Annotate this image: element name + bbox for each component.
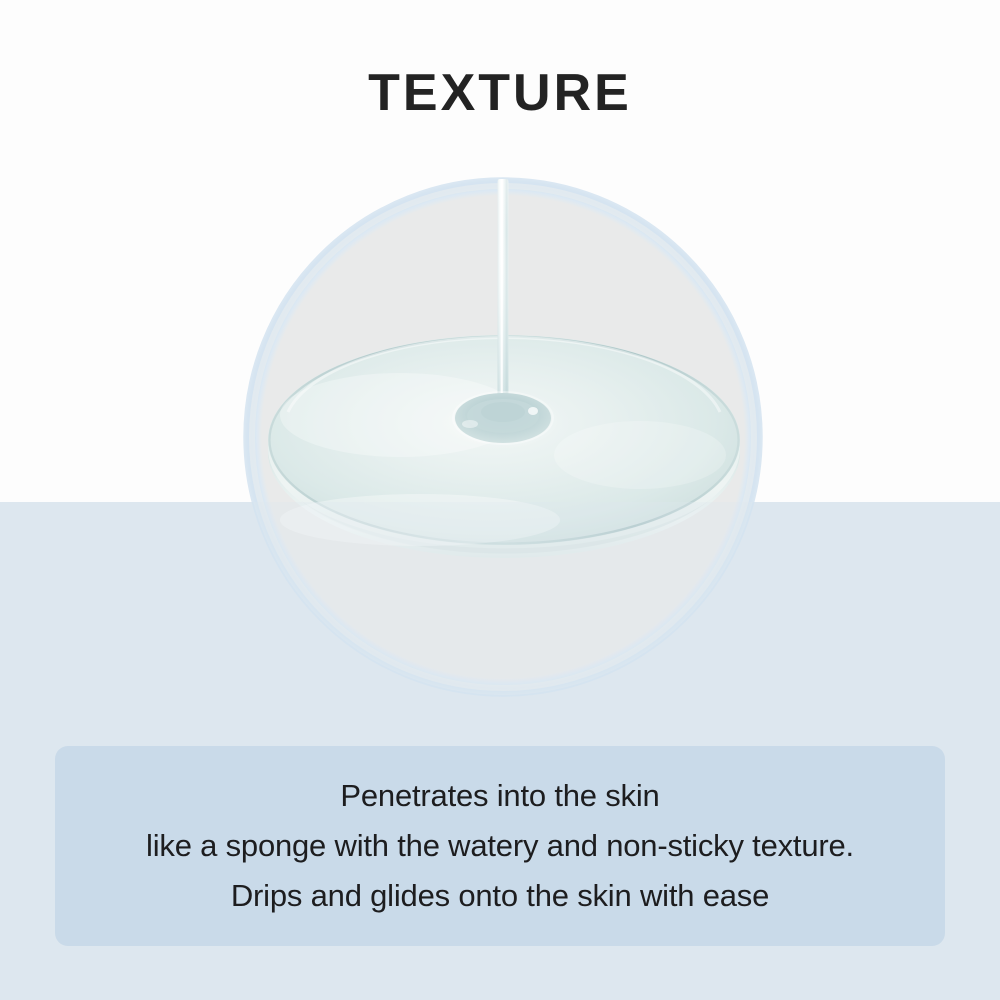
caption-line-1: Penetrates into the skin bbox=[340, 771, 659, 821]
caption-box: Penetrates into the skin like a sponge w… bbox=[55, 746, 945, 946]
infographic-page: TEXTURE bbox=[0, 0, 1000, 1000]
liquid-stream bbox=[498, 178, 509, 422]
splash-impact bbox=[443, 390, 563, 450]
caption-line-3: Drips and glides onto the skin with ease bbox=[231, 871, 769, 921]
caption-line-2: like a sponge with the watery and non-st… bbox=[146, 821, 854, 871]
illustration-stage bbox=[0, 0, 1000, 760]
